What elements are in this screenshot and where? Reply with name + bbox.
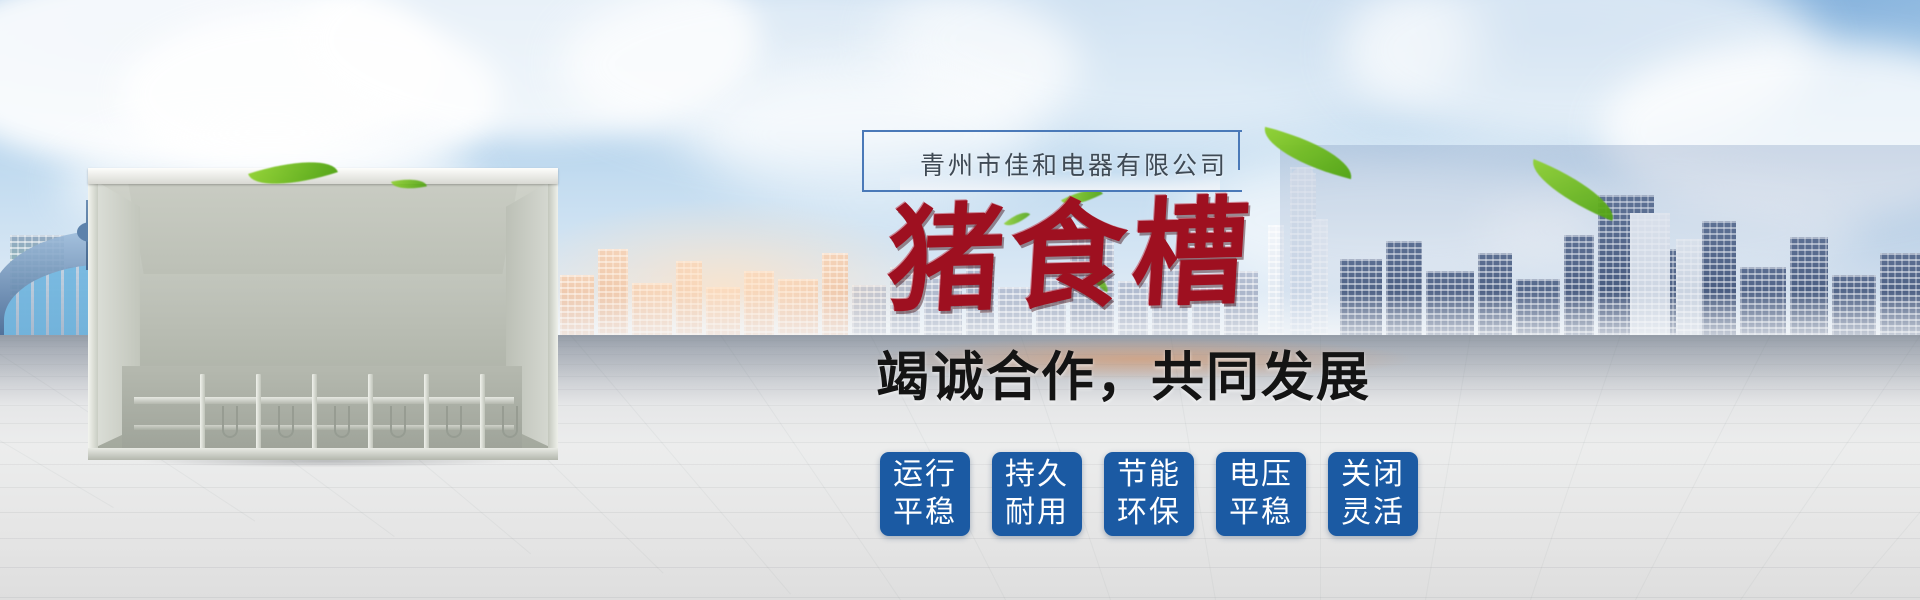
badge-line-2: 耐用 xyxy=(1005,494,1069,532)
nipple-drinker xyxy=(390,406,406,438)
skyline-building xyxy=(1740,267,1786,345)
plaza-grid-line xyxy=(0,597,1920,598)
trough-divider xyxy=(256,374,261,450)
building-windows xyxy=(1630,213,1670,345)
skyline-building xyxy=(1702,221,1736,345)
badge-line-2: 灵活 xyxy=(1341,494,1405,532)
page-title: 猪食槽 xyxy=(883,181,1312,332)
plaza-grid-line xyxy=(0,538,1920,539)
building-windows xyxy=(676,261,702,345)
trough-divider xyxy=(200,374,205,450)
feature-badge-3[interactable]: 节能环保 xyxy=(1104,452,1194,536)
badge-line-1: 关闭 xyxy=(1341,456,1405,494)
promotional-banner: 青州市佳和电器有限公司 猪食槽 竭诚合作，共同发展 运行平稳持久耐用节能环保电压… xyxy=(0,0,1920,600)
plaza-grid-line xyxy=(0,567,1920,568)
plaza-grid-line xyxy=(570,335,791,595)
trough-floor xyxy=(122,366,522,452)
skyline-building xyxy=(676,261,702,345)
nipple-drinker xyxy=(278,406,294,438)
feature-badge-1[interactable]: 运行平稳 xyxy=(880,452,970,536)
building-windows xyxy=(1676,239,1702,345)
badge-line-1: 电压 xyxy=(1229,456,1293,494)
badge-line-1: 运行 xyxy=(893,456,957,494)
skyline-building xyxy=(598,249,628,345)
badge-line-1: 持久 xyxy=(1005,456,1069,494)
trough-divider xyxy=(424,374,429,450)
building-windows xyxy=(598,249,628,345)
trough-divider xyxy=(368,374,373,450)
skyline-building xyxy=(1630,213,1670,345)
subtitle-slogan: 竭诚合作，共同发展 xyxy=(876,346,1336,410)
feature-badge-4[interactable]: 电压平稳 xyxy=(1216,452,1306,536)
trough-right-edge xyxy=(548,174,558,460)
trough-feed-tray xyxy=(134,397,514,404)
building-windows xyxy=(1740,267,1786,345)
building-windows xyxy=(1564,235,1594,345)
badge-line-2: 平稳 xyxy=(1229,494,1293,532)
nipple-drinker xyxy=(222,406,238,438)
trough-back-panel xyxy=(128,182,518,274)
nipple-drinker xyxy=(334,406,350,438)
skyline-building xyxy=(1790,237,1828,345)
badge-line-1: 节能 xyxy=(1117,456,1181,494)
badge-line-2: 平稳 xyxy=(893,494,957,532)
building-windows xyxy=(1790,237,1828,345)
company-name: 青州市佳和电器有限公司 xyxy=(920,146,1280,182)
building-windows xyxy=(1880,253,1920,345)
building-windows xyxy=(1312,219,1328,345)
trough-bottom-rail xyxy=(88,448,558,460)
trough-divider xyxy=(312,374,317,450)
pig-feeder-trough xyxy=(88,168,558,460)
nipple-drinker xyxy=(446,406,462,438)
skyline-building xyxy=(1312,219,1328,345)
skyline-building xyxy=(1676,239,1702,345)
badge-line-2: 环保 xyxy=(1117,494,1181,532)
feature-badge-2[interactable]: 持久耐用 xyxy=(992,452,1082,536)
skyline-building xyxy=(1564,235,1594,345)
feature-badge-5[interactable]: 关闭灵活 xyxy=(1328,452,1418,536)
nipple-drinker xyxy=(502,406,518,438)
skyline-building xyxy=(1880,253,1920,345)
feature-badge-row: 运行平稳持久耐用节能环保电压平稳关闭灵活 xyxy=(880,452,1418,536)
trough-divider xyxy=(480,374,485,450)
trough-left-edge xyxy=(88,174,98,460)
building-windows xyxy=(1702,221,1736,345)
plaza-grid-line xyxy=(1850,335,1920,595)
